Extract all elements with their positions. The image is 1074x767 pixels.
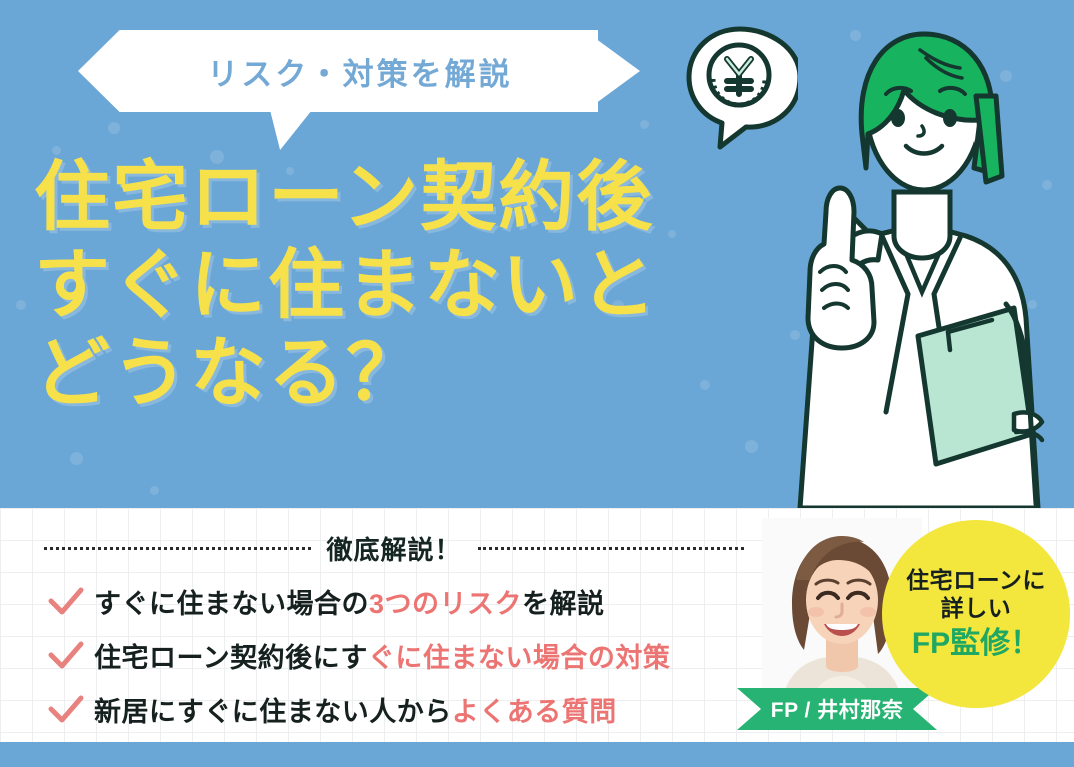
check-icon [48, 587, 94, 615]
list-item-plain: 新居にすぐに住まない人から [94, 697, 452, 727]
hero-section: リスク・対策を解説 住宅ローン契約後 すぐに住まないと どうなる？ [0, 0, 1074, 508]
dotted-rule-left [44, 547, 311, 550]
panel-heading-row: 徹底解説！ [44, 530, 744, 566]
ribbon-banner: リスク・対策を解説 [78, 30, 598, 112]
list-item-text: すぐに住まない場合の3つのリスクを解説 [94, 582, 605, 621]
list-item-highlight: 3つのリスク [369, 589, 522, 619]
dotted-rule-right [478, 547, 745, 550]
list-item-highlight: ぐに住まない場合の対策 [368, 643, 671, 673]
ribbon-tail [270, 110, 312, 150]
title-line-3: どうなる？ [34, 336, 794, 412]
decorative-dot [70, 452, 83, 465]
fp-name-ribbon: FP / 井村那奈 [737, 688, 937, 730]
list-item-tail: を解説 [522, 589, 605, 619]
ribbon-label: リスク・対策を解説 [78, 30, 598, 112]
badge-line-1: 住宅ローンに [906, 566, 1046, 594]
list-item: 新居にすぐに住まない人からよくある質問 [48, 682, 778, 736]
list-item-highlight: よくある質問 [452, 697, 617, 727]
decorative-dot [640, 120, 649, 129]
list-item: 住宅ローン契約後にすぐに住まない場合の対策 [48, 628, 778, 682]
footer-strip [0, 742, 1074, 767]
list-item-text: 住宅ローン契約後にすぐに住まない場合の対策 [94, 636, 670, 675]
badge-line-2: 詳しい [941, 594, 1012, 622]
article-header-banner: リスク・対策を解説 住宅ローン契約後 すぐに住まないと どうなる？ [0, 0, 1074, 767]
check-icon [48, 695, 94, 723]
fp-name-label: FP / 井村那奈 [771, 694, 903, 724]
decorative-dot [150, 486, 159, 495]
list-item: すぐに住まない場合の3つのリスクを解説 [48, 574, 778, 628]
decorative-dot [16, 300, 26, 310]
page-title: 住宅ローン契約後 すぐに住まないと どうなる？ [34, 160, 794, 424]
check-icon [48, 641, 94, 669]
summary-panel: 徹底解説！ すぐに住まない場合の3つのリスクを解説 住宅ローン契約後にすぐに住ま… [0, 508, 1074, 742]
title-line-2: すぐに住まないと [34, 248, 794, 324]
decorative-dot [52, 146, 61, 155]
list-item-plain: すぐに住まない場合の [94, 589, 369, 619]
badge-line-3: FP監修！ [912, 626, 1040, 663]
decorative-dot [745, 440, 758, 453]
bullet-list: すぐに住まない場合の3つのリスクを解説 住宅ローン契約後にすぐに住まない場合の対… [48, 574, 778, 736]
list-item-plain: 住宅ローン契約後にす [94, 643, 368, 673]
pointing-woman-illustration [770, 14, 1074, 508]
panel-heading: 徹底解説！ [327, 530, 462, 567]
decorative-dot [108, 122, 120, 134]
fp-supervision-badge: 住宅ローンに 詳しい FP監修！ [882, 520, 1070, 708]
list-item-text: 新居にすぐに住まない人からよくある質問 [94, 690, 617, 729]
title-line-1: 住宅ローン契約後 [34, 160, 794, 236]
